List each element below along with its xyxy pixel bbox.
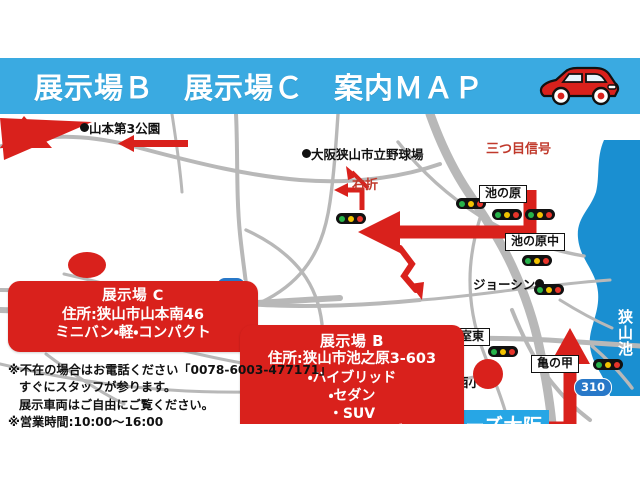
route-shield-310: 310 [574, 378, 612, 397]
balloon-c-categories: ミニバン・軽・コンパクト [14, 325, 252, 343]
lake-shape [578, 140, 640, 396]
intersection-label-ikenohara: 池の原 [479, 185, 527, 203]
place-marker-dot [302, 149, 311, 158]
balloon-showroom-c[interactable]: 展示場 C 住所:狭山市山本南46 ミニバン・軽・コンパクト [8, 281, 258, 352]
header-banner: 展示場Ｂ 展示場Ｃ 案内ＭＡＰ [0, 58, 640, 114]
map-guide-page: 展示場Ｂ 展示場Ｃ 案内ＭＡＰ [0, 0, 640, 480]
place-label-baseball-stadium: 大阪狭山市立野球場 [302, 144, 424, 163]
balloon-c-pin [68, 252, 106, 278]
annotation-third-signal: 三つ目信号 [486, 138, 551, 157]
place-marker-dot [80, 123, 89, 132]
traffic-signal-icon [525, 209, 555, 220]
traffic-signal-icon [336, 213, 366, 224]
note-line-freeview: 展示車両はご自由にご覧ください。 [8, 397, 308, 414]
page-title: 展示場Ｂ 展示場Ｃ 案内ＭＡＰ [34, 65, 484, 107]
traffic-signal-icon [534, 284, 564, 295]
footer-notes: ※不在の場合はお電話ください「0078-6003-477171」 すぐにスタッフ… [8, 362, 308, 431]
balloon-c-title: 展示場 C [14, 288, 252, 306]
intersection-label-kamenoko: 亀の甲 [531, 355, 579, 373]
balloon-b-title: 展示場 B [246, 332, 458, 350]
note-line-staff: すぐにスタッフが参ります。 [8, 379, 308, 396]
place-label-yamamoto-park: 山本第3公園 [80, 118, 160, 137]
note-line-phone: ※不在の場合はお電話ください「0078-6003-477171」 [8, 362, 308, 379]
traffic-signal-icon [522, 255, 552, 266]
lake-label: 狭山池 [611, 310, 640, 357]
annotation-right-turn: 右折 [352, 174, 378, 193]
intersection-label-ikenoharanaka: 池の原中 [505, 233, 565, 251]
traffic-signal-icon [593, 359, 623, 370]
balloon-c-address: 住所:狭山市山本南46 [14, 307, 252, 325]
balloon-b-pin [473, 359, 503, 389]
red-car-icon [538, 63, 622, 109]
traffic-signal-icon [492, 209, 522, 220]
note-line-hours: ※営業時間:10:00〜16:00 [8, 414, 308, 431]
route-arrow-small [410, 282, 424, 300]
traffic-signal-icon [488, 346, 518, 357]
